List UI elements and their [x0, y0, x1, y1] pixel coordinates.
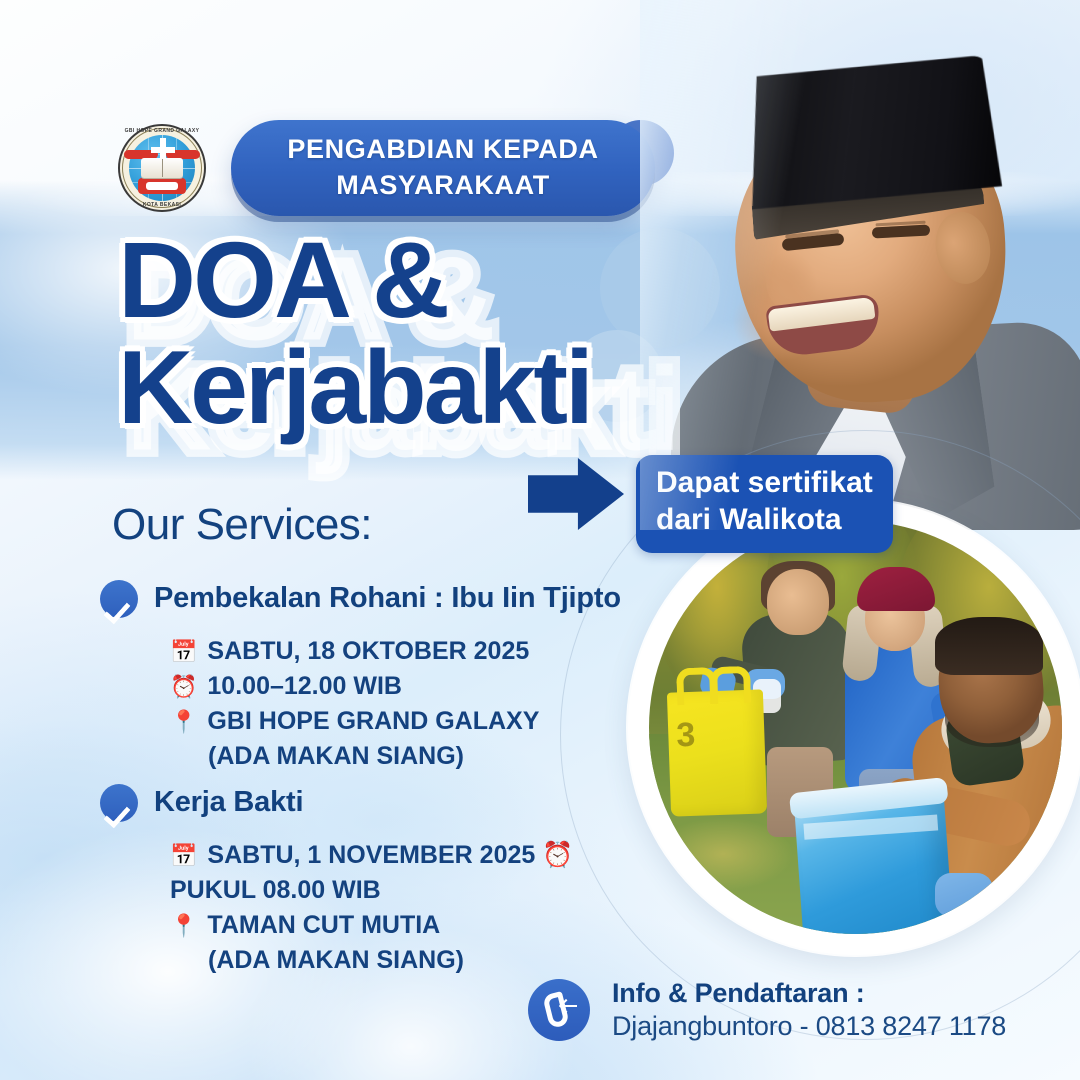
calendar-icon: 📅	[170, 841, 197, 872]
service-2-time: PUKUL 08.00 WIB	[170, 873, 381, 908]
emblem-text-bottom: KOTA BEKASI	[118, 202, 206, 208]
volunteer-a-head	[767, 569, 829, 635]
blue-trash-bag	[794, 788, 955, 934]
check-circle-icon	[100, 784, 138, 822]
service-2-details: 📅SABTU, 1 NOVEMBER 2025 ⏰ PUKUL 08.00 WI…	[100, 838, 680, 978]
yellow-trash-bag: 3	[667, 689, 767, 816]
service-1-time: 10.00–12.00 WIB	[207, 669, 402, 704]
alarm-clock-icon: ⏰	[170, 672, 197, 703]
service-1-details: 📅SABTU, 18 OKTOBER 2025 ⏰10.00–12.00 WIB…	[100, 634, 680, 774]
location-pin-icon: 📍	[170, 911, 197, 942]
service-2-note: (ADA MAKAN SIANG)	[208, 943, 464, 978]
phone-incoming-icon	[528, 979, 590, 1041]
check-circle-icon	[100, 580, 138, 618]
poster-canvas: 3 GBI HOPE GRA	[0, 0, 1080, 1080]
service-2-place: TAMAN CUT MUTIA	[207, 908, 440, 943]
services-title: Our Services:	[112, 500, 372, 550]
volunteer-c-glove	[935, 873, 993, 917]
bag-band	[803, 814, 938, 839]
contact-label: Info & Pendaftaran :	[612, 978, 1006, 1009]
service-1-date: SABTU, 18 OKTOBER 2025	[207, 634, 529, 669]
pill-line-1: PENGABDIAN KEPADA	[287, 132, 598, 168]
service-2-date: SABTU, 1 NOVEMBER 2025 ⏰	[207, 838, 573, 873]
header-pill-banner: PENGABDIAN KEPADA MASYARAKAAT	[231, 120, 655, 216]
contact-block: Info & Pendaftaran : Djajangbuntoro - 08…	[528, 978, 1006, 1042]
pill-line-2: MASYARAKAAT	[287, 168, 598, 204]
service-item-1: Pembekalan Rohani : Ibu Iin Tjipto 📅SABT…	[100, 578, 680, 774]
portrait-photo	[640, 0, 1080, 530]
volunteer-photo: 3	[649, 521, 1062, 934]
service-1-name: Pembekalan Rohani : Ibu Iin Tjipto	[154, 578, 621, 615]
main-headline: DOA & DOA & Kerjabakti Kerjabakti	[118, 226, 688, 452]
headline-line-2: Kerjabakti	[118, 336, 591, 440]
organization-emblem-logo: GBI HOPE GRAND GALAXY KOTA BEKASI	[118, 124, 206, 212]
headline-line-1: DOA &	[118, 226, 447, 334]
bag-marking: 3	[676, 714, 742, 786]
location-pin-icon: 📍	[170, 707, 197, 738]
calendar-icon: 📅	[170, 637, 197, 668]
service-1-place: GBI HOPE GRAND GALAXY	[207, 704, 539, 739]
service-2-name: Kerja Bakti	[154, 782, 303, 819]
emblem-text-top: GBI HOPE GRAND GALAXY	[118, 128, 206, 134]
volunteer-c-hair	[935, 617, 1043, 675]
service-item-2: Kerja Bakti 📅SABTU, 1 NOVEMBER 2025 ⏰ PU…	[100, 782, 680, 978]
service-1-note: (ADA MAKAN SIANG)	[208, 739, 464, 774]
portrait-edge-fade	[640, 0, 1080, 530]
contact-value: Djajangbuntoro - 0813 8247 1178	[612, 1011, 1006, 1042]
